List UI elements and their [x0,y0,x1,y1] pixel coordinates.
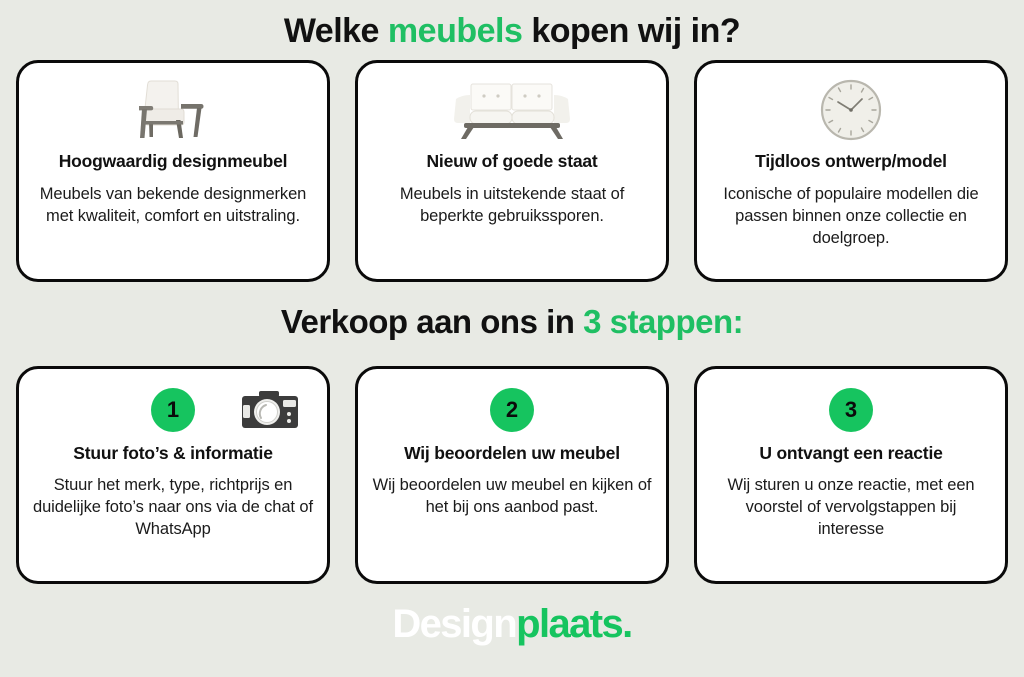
clock-icon [711,73,991,147]
criteria-card-row: Hoogwaardig designmeubel Meubels van bek… [16,60,1008,282]
step-card-title: U ontvangt een reactie [759,443,942,463]
criteria-card-body: Meubels in uitstekende staat of beperkte… [372,184,652,228]
criteria-card-body: Iconische of populaire modellen die pass… [711,184,991,250]
title-criteria-accent: meubels [388,12,522,50]
criteria-card-body: Meubels van bekende designmerken met kwa… [33,184,313,228]
step-header: 2 [372,379,652,441]
step-header: 1 [33,379,313,441]
step-card-2: 2 Wij beoordelen uw meubel Wij beoordele… [355,366,669,584]
criteria-card-title: Nieuw of goede staat [426,151,597,171]
criteria-card-title: Hoogwaardig designmeubel [59,151,288,171]
step-card-3: 3 U ontvangt een reactie Wij sturen u on… [694,366,1008,584]
logo-text-design: Design [392,602,516,646]
title-criteria-part2: kopen wij in? [522,12,740,50]
step-number-badge: 2 [490,388,534,432]
title-criteria-part1: Welke [284,12,388,50]
title-steps-accent: 3 stappen: [583,303,743,340]
criteria-card-title: Tijdloos ontwerp/model [755,151,947,171]
infographic-page: Welke meubels kopen wij in? [0,0,1024,677]
step-card-row: 1 [16,366,1008,584]
step-number-badge: 1 [151,388,195,432]
sofa-icon [372,73,652,147]
step-header: 3 [711,379,991,441]
page-title-criteria: Welke meubels kopen wij in? [0,14,1024,48]
page-title-steps: Verkoop aan ons in 3 stappen: [0,305,1024,338]
step-number-badge: 3 [829,388,873,432]
brand-logo: Designplaats. [0,604,1024,644]
criteria-card-staat: Nieuw of goede staat Meubels in uitsteke… [355,60,669,282]
step-card-title: Stuur foto’s & informatie [73,443,273,463]
logo-text-plaats: plaats. [516,602,632,646]
criteria-card-tijdloos: Tijdloos ontwerp/model Iconische of popu… [694,60,1008,282]
step-card-body: Wij beoordelen uw meubel en kijken of he… [372,475,652,519]
step-card-1: 1 [16,366,330,584]
camera-icon [241,391,299,438]
step-card-title: Wij beoordelen uw meubel [404,443,620,463]
step-card-body: Stuur het merk, type, richtprijs en duid… [33,475,313,541]
armchair-icon [33,73,313,147]
criteria-card-designmeubel: Hoogwaardig designmeubel Meubels van bek… [16,60,330,282]
title-steps-part1: Verkoop aan ons in [281,303,583,340]
step-card-body: Wij sturen u onze reactie, met een voors… [711,475,991,541]
